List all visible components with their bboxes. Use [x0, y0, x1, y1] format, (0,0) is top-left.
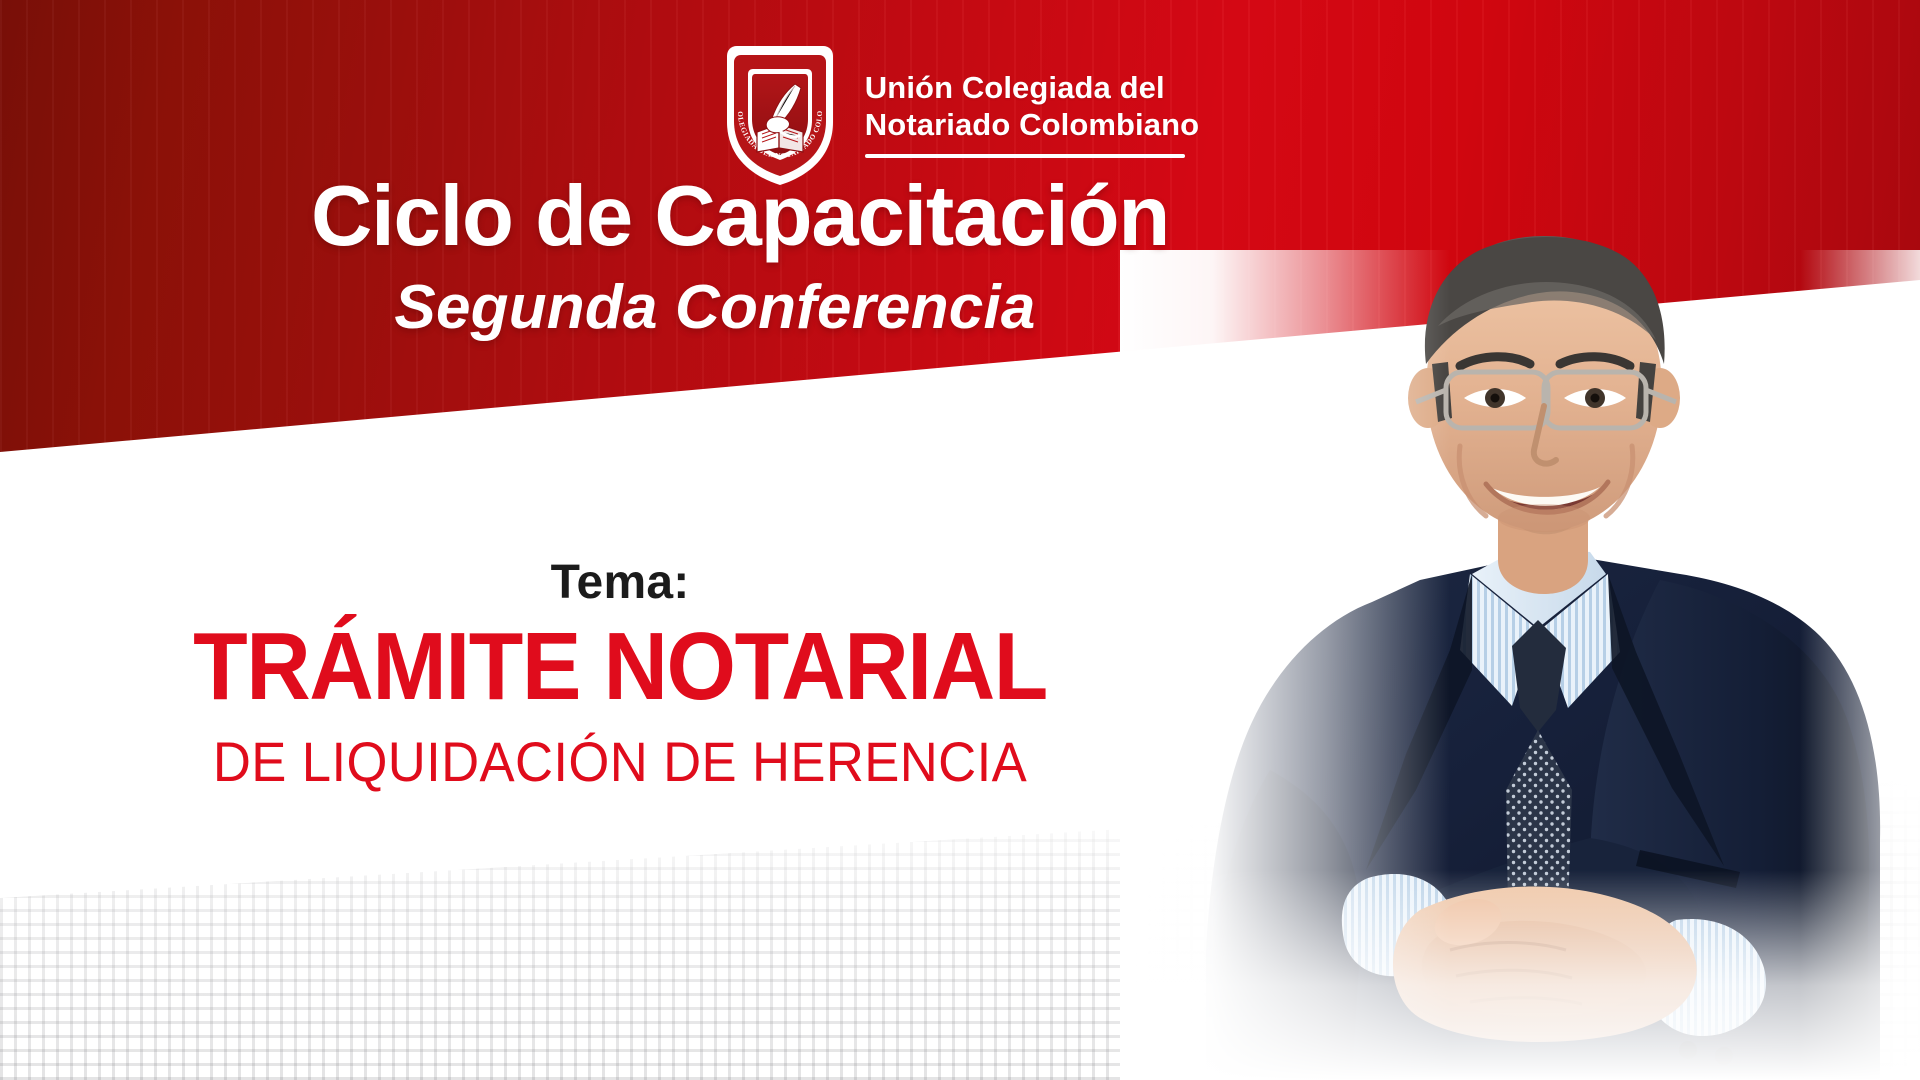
brand-lockup: U.C.N.C. UNION COLEGIADA DEL NOTARIADO C… [0, 40, 1920, 188]
topic-title: TRÁMITE NOTARIAL [43, 612, 1196, 722]
event-title: Ciclo de Capacitación [0, 168, 1480, 266]
ucnc-shield-crest-icon: U.C.N.C. UNION COLEGIADA DEL NOTARIADO C… [721, 40, 839, 188]
photo-fade-bottom [1120, 870, 1920, 1080]
topic-subtitle: DE LIQUIDACIÓN DE HERENCIA [37, 729, 1203, 794]
event-subtitle: Segunda Conferencia [0, 272, 1430, 343]
organization-name-block: Unión Colegiada del Notariado Colombiano [865, 70, 1199, 159]
organization-underline [865, 154, 1185, 158]
organization-name: Unión Colegiada del Notariado Colombiano [865, 70, 1199, 144]
poster-canvas: U.C.N.C. UNION COLEGIADA DEL NOTARIADO C… [0, 0, 1920, 1080]
svg-text:U.C.N.C.: U.C.N.C. [751, 55, 809, 70]
topic-label: Tema: [0, 555, 1240, 610]
